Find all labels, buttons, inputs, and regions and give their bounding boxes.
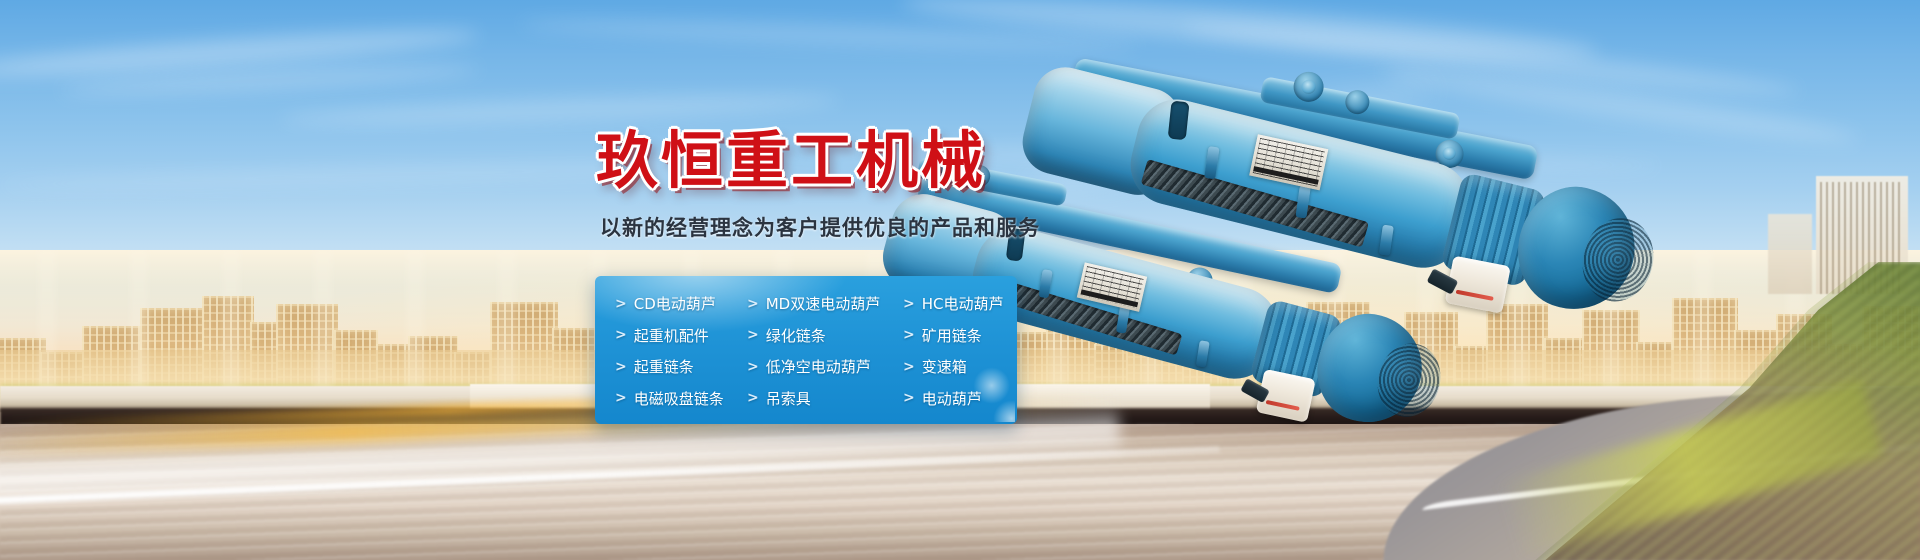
distant-tower-secondary [1768,214,1812,294]
product-link[interactable]: >起重链条 [615,356,747,377]
product-link-label: 绿化链条 [766,325,826,346]
product-link[interactable]: >HC电动葫芦 [903,293,1017,314]
chevron-right-icon: > [747,360,759,374]
product-links-grid: >CD电动葫芦>MD双速电动葫芦>HC电动葫芦>起重机配件>绿化链条>矿用链条>… [595,276,1017,424]
product-links-panel: >CD电动葫芦>MD双速电动葫芦>HC电动葫芦>起重机配件>绿化链条>矿用链条>… [595,276,1017,424]
chevron-right-icon: > [903,360,915,374]
product-link-label: MD双速电动葫芦 [766,293,881,314]
hero-banner: 玖恒重工机械 以新的经营理念为客户提供优良的产品和服务 >CD电动葫芦>MD双速… [0,0,1920,560]
product-link-label: 变速箱 [922,356,967,377]
chevron-right-icon: > [903,297,915,311]
product-link-label: 矿用链条 [922,325,982,346]
panel-corner-highlight [993,400,1015,422]
product-link-label: CD电动葫芦 [634,293,716,314]
chevron-right-icon: > [615,297,627,311]
product-link[interactable]: >变速箱 [903,356,1017,377]
chevron-right-icon: > [747,297,759,311]
product-link[interactable]: >起重机配件 [615,325,747,346]
product-link[interactable]: >吊索具 [747,388,903,409]
product-link-label: 电动葫芦 [922,388,982,409]
junction-box-label [1266,400,1300,411]
chevron-right-icon: > [615,360,627,374]
product-link[interactable]: >MD双速电动葫芦 [747,293,903,314]
product-link-label: 起重机配件 [634,325,709,346]
product-link-label: 吊索具 [766,388,811,409]
chevron-right-icon: > [903,391,915,405]
product-link[interactable]: >绿化链条 [747,325,903,346]
product-link[interactable]: >低净空电动葫芦 [747,356,903,377]
product-link-label: 低净空电动葫芦 [766,356,871,377]
product-link-label: 起重链条 [634,356,694,377]
page-title: 玖恒重工机械 [596,110,986,200]
junction-box-label [1456,290,1494,301]
product-link-label: 电磁吸盘链条 [634,388,724,409]
product-link-label: HC电动葫芦 [922,293,1004,314]
chevron-right-icon: > [615,391,627,405]
chevron-right-icon: > [747,391,759,405]
chevron-right-icon: > [615,328,627,342]
product-link[interactable]: >矿用链条 [903,325,1017,346]
chevron-right-icon: > [903,328,915,342]
page-subtitle: 以新的经营理念为客户提供优良的产品和服务 [600,212,1040,242]
chevron-right-icon: > [747,328,759,342]
product-link[interactable]: >电磁吸盘链条 [615,388,747,409]
product-link[interactable]: >CD电动葫芦 [615,293,747,314]
